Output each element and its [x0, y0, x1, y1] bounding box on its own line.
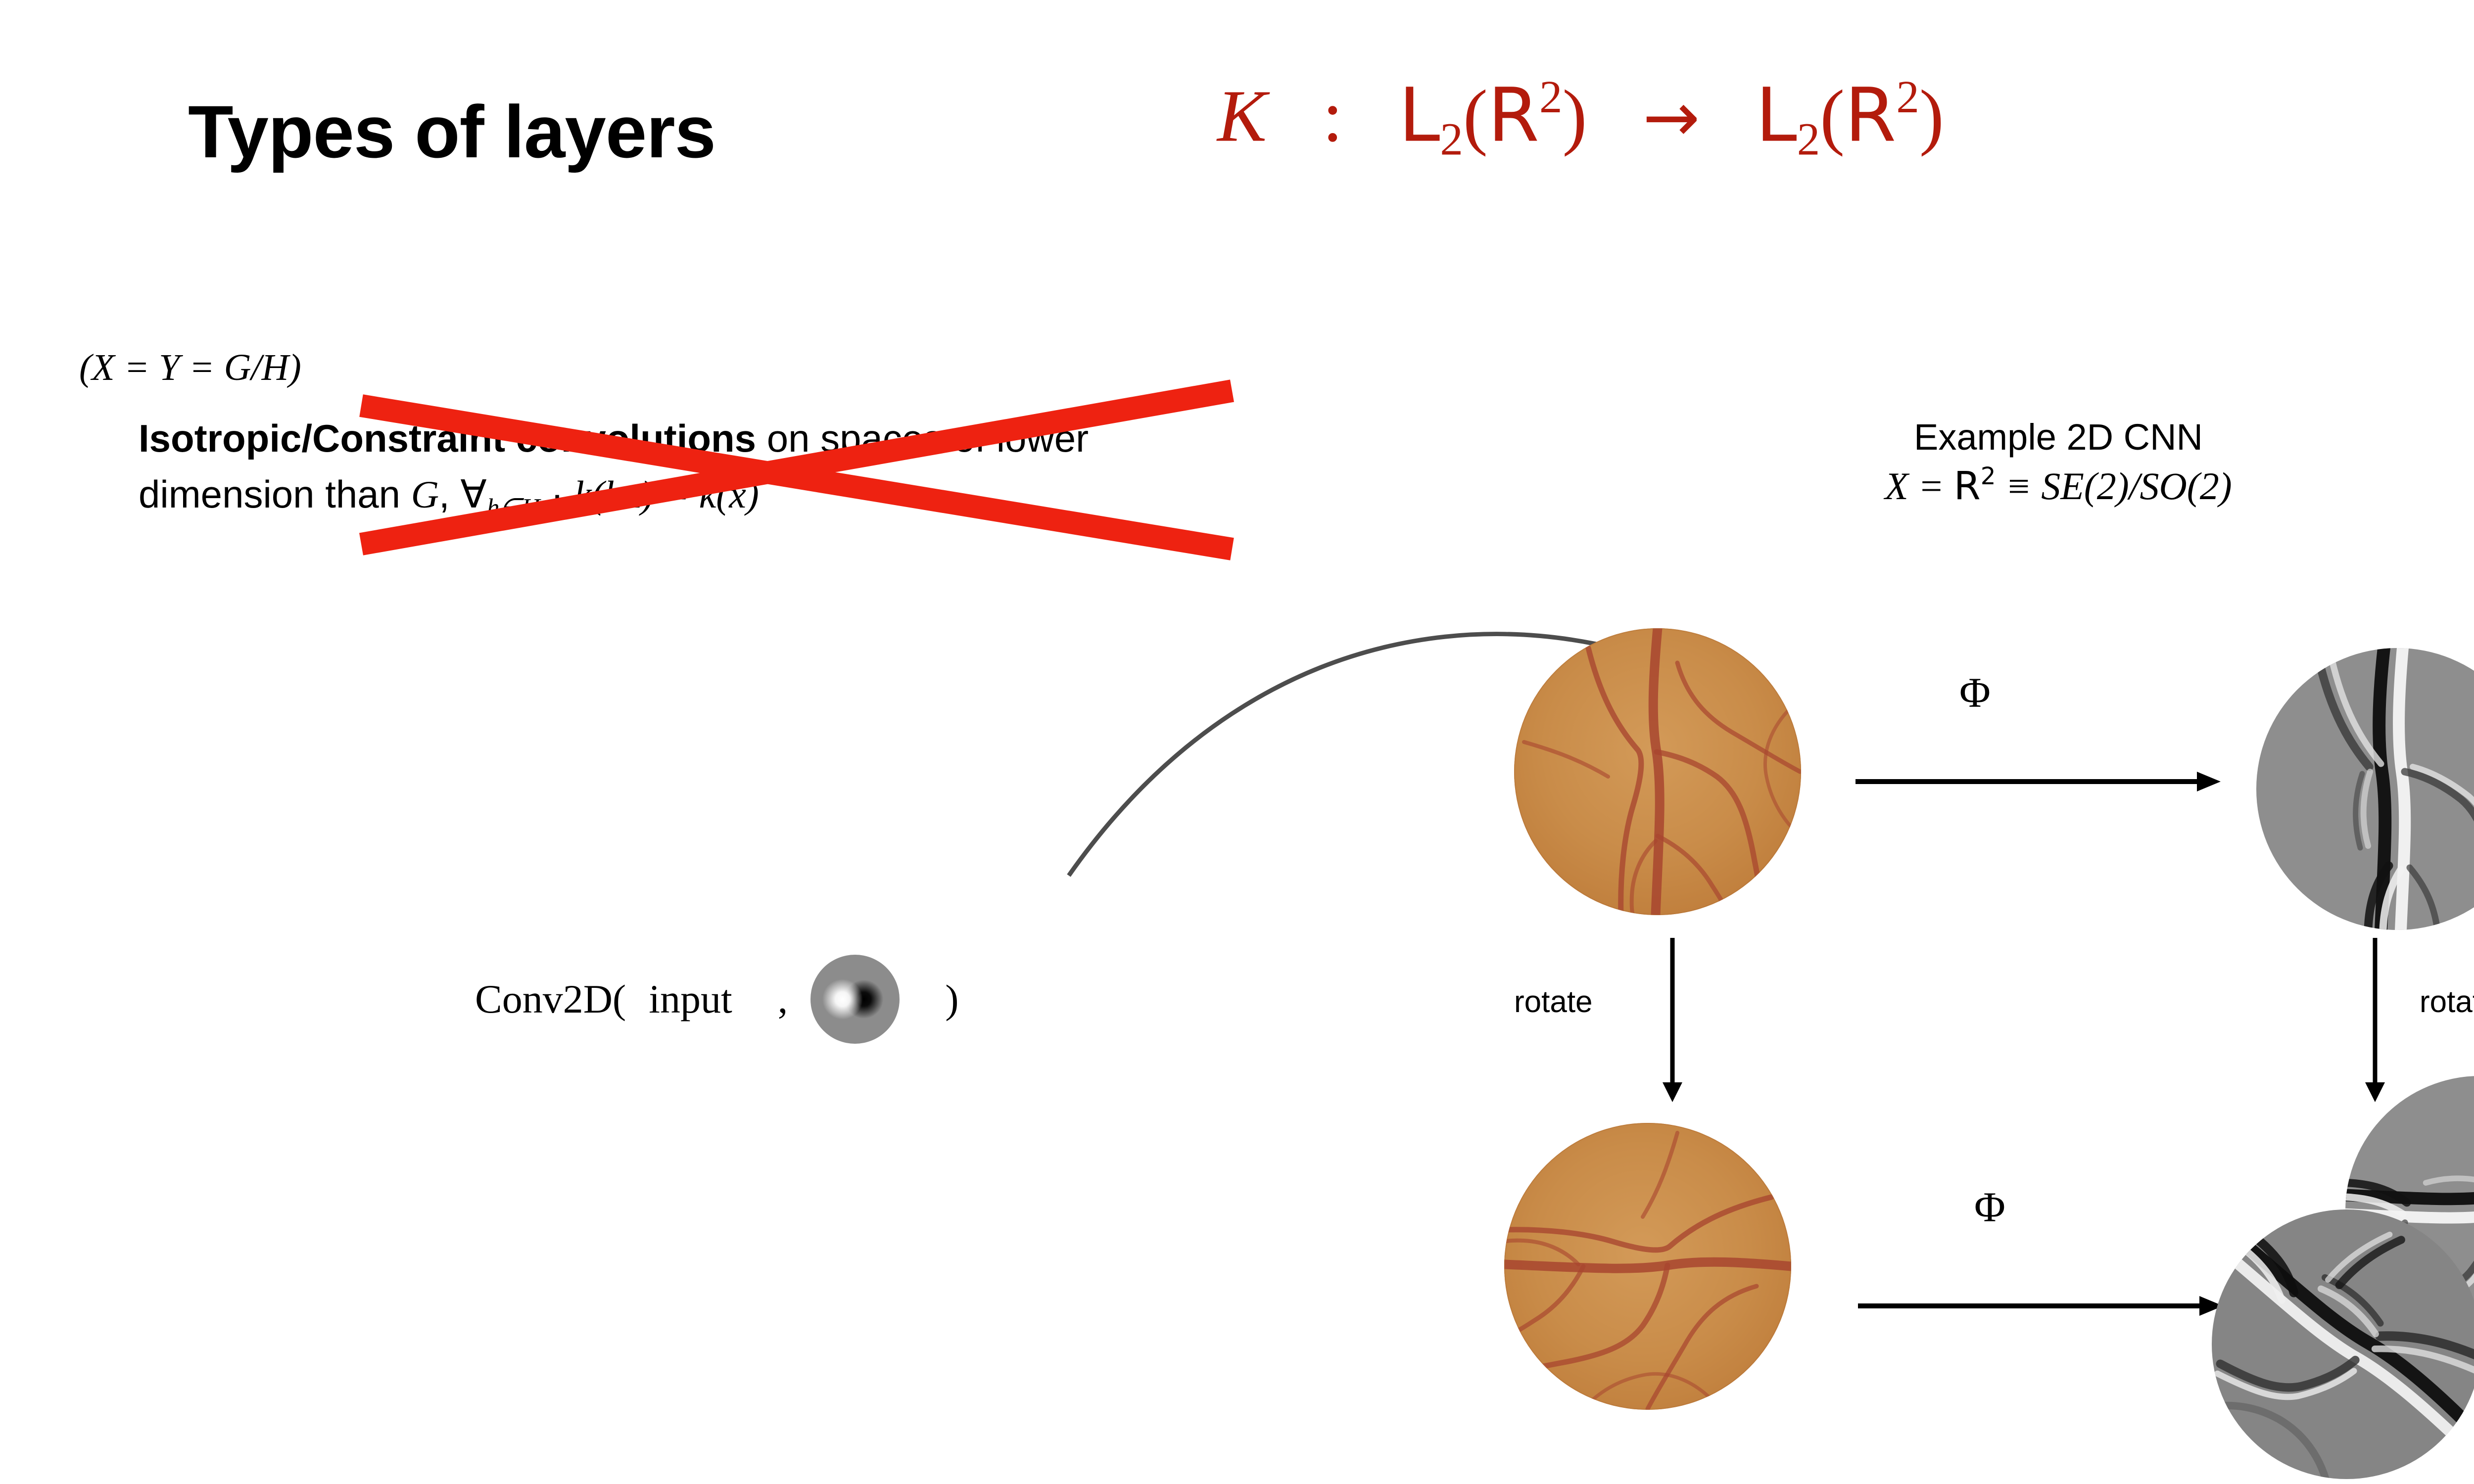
arrow-right-top-icon: [1851, 752, 2222, 811]
curved-connector-arc-icon: [0, 0, 2474, 1484]
feature-map-rotated-overlay: [2212, 1209, 2474, 1479]
arrow-down-right-icon: [2345, 935, 2405, 1103]
phi-label-top: Φ: [1959, 668, 1991, 717]
retina-input-top: [1514, 628, 1801, 915]
arrow-down-left-icon: [1643, 935, 1702, 1103]
phi-label-bottom: Φ: [1974, 1182, 2005, 1232]
retina-input-rotated: [1504, 1123, 1791, 1410]
rotate-label-right: rotate: [2420, 984, 2474, 1020]
rotate-label-left: rotate: [1514, 984, 1593, 1020]
arrow-right-bottom-icon: [1853, 1276, 2224, 1336]
